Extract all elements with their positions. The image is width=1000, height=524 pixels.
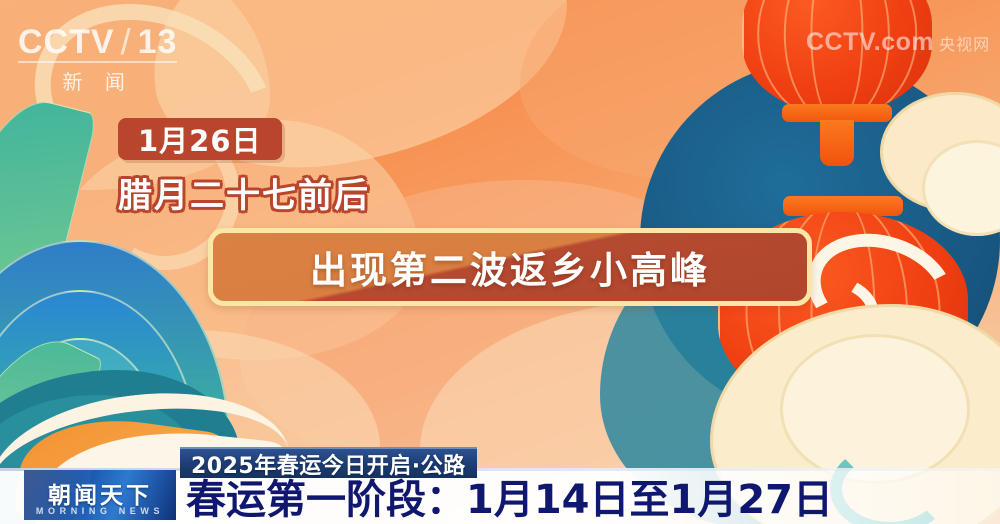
program-name-en: MORNING NEWS [24,506,176,516]
channel-category: 新 闻 [18,66,177,95]
channel-logo: CCTV / 13 新 闻 [18,24,177,95]
watermark-site-name: 央视网 [939,31,990,55]
logo-slash: / [121,24,132,60]
lunar-date-label: 腊月二十七前后 [118,168,370,217]
date-badge-label: 1月26日 [138,118,262,160]
lantern-ribs [742,0,932,114]
lantern-body [742,0,932,114]
program-logo: 朝闻天下 MORNING NEWS [24,470,176,520]
program-name-cn: 朝闻天下 [24,476,176,510]
site-watermark: CCTV.com 央视网 [806,28,990,57]
headline-banner: 出现第二波返乡小高峰 [208,228,812,306]
main-headline: 春运第一阶段：1月14日至1月27日 [186,470,833,522]
headline-banner-label: 出现第二波返乡小高峰 [213,233,807,301]
broadcast-screenshot: CCTV / 13 新 闻 CCTV.com 央视网 1月26日 腊月二十七前后… [0,0,1000,524]
channel-logo-row: CCTV / 13 [18,24,177,60]
watermark-domain: CCTV.com [806,28,934,57]
lower-third: 2025年春运今日开启·公路 朝闻天下 MORNING NEWS 春运第一阶段：… [0,468,1000,524]
network-name: CCTV [18,25,115,59]
date-badge: 1月26日 [118,118,282,160]
logo-underline [18,61,177,63]
lantern-tassel [820,120,854,166]
channel-number: 13 [138,25,178,59]
main-headline-label: 春运第一阶段：1月14日至1月27日 [186,467,833,524]
